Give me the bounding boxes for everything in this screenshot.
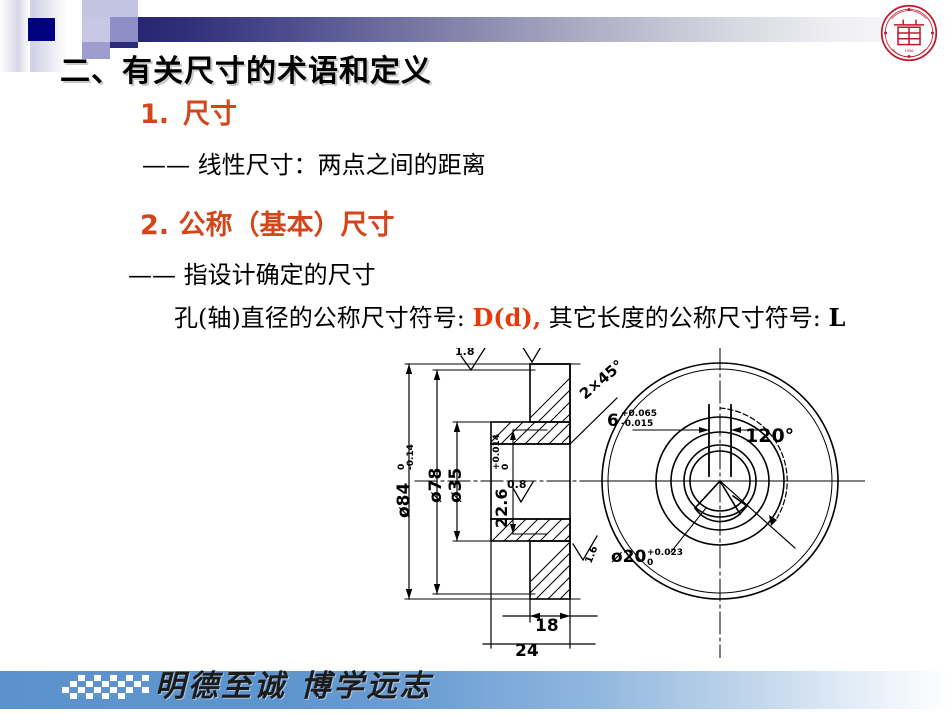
item1-subtext: —— 线性尺寸：两点之间的距离 (142, 145, 486, 180)
paragraph-text-1: 孔(轴)直径的公称尺寸符号: (174, 304, 472, 332)
header-square-e (110, 17, 138, 42)
svg-text:1958: 1958 (904, 48, 914, 53)
header-gradient-bar (112, 17, 950, 42)
label-keyway-22-6: 22.6 (492, 489, 511, 528)
fuzhou-university-seal-icon: 1958 (880, 4, 938, 62)
page-title: 二、有关尺寸的术语和定义 (60, 46, 432, 90)
section-item-2: 2. 公称（基本）尺寸 (140, 203, 394, 242)
item1-label: 尺寸 (183, 99, 237, 130)
footer-motto: 明德至诚 博学远志 (155, 661, 432, 705)
definition-paragraph: 孔(轴)直径的公称尺寸符号: D(d), 其它长度的公称尺寸符号: L (118, 302, 878, 335)
label-dia78: ø78 (426, 468, 446, 503)
section-item-1: 1.尺寸 (140, 92, 237, 131)
label-angle-120: 120° (745, 425, 794, 447)
label-dia84-tol-lower: -0.14 (406, 444, 416, 470)
footer-region: 明德至诚 博学远志 (0, 668, 950, 714)
header-square-c (82, 17, 110, 42)
item1-number: 1. (140, 99, 169, 130)
symbol-Dd: D(d), (472, 303, 541, 332)
label-keyway-6-tol-lower: -0.015 (621, 419, 653, 429)
label-keyway-6-tol-upper: +0.065 (621, 409, 657, 419)
front-centerlines (595, 348, 857, 658)
label-dia35: ø35 (446, 468, 466, 503)
header-square-b (82, 0, 110, 17)
label-roughness-1-8: 1.8 (455, 348, 475, 358)
dim-dia84 (406, 364, 412, 599)
label-bore-20-tol-lower: 0 (647, 558, 653, 568)
label-bore-20-tol-upper: +0.023 (647, 548, 683, 558)
roughness-symbol-3-2 (517, 348, 545, 362)
header-square-d (110, 0, 138, 17)
label-roughness-1-6: 1.6 (584, 545, 601, 566)
label-keyway-6: 6 (607, 411, 619, 431)
label-dia84: ø84 (395, 482, 414, 518)
front-inner-slots (695, 481, 747, 522)
symbol-L: L (828, 303, 845, 332)
slide-canvas: 1958 二、有关尺寸的术语和定义 1.尺寸 —— 线性尺寸：两点之间的距离 2… (0, 0, 950, 714)
label-bore-20: ø20 (611, 547, 647, 567)
footer-pixel-decoration-icon (62, 671, 158, 705)
header-left-fade-inner (0, 0, 30, 72)
dim-bore-20-leader (671, 508, 706, 552)
label-24: 24 (515, 641, 539, 658)
paragraph-text-2: 其它长度的公称尺寸符号: (541, 304, 828, 332)
header-square-a (28, 18, 55, 41)
item2-subtext: —— 指设计确定的尺寸 (128, 255, 376, 290)
label-18: 18 (535, 616, 559, 636)
label-chamfer: 2×45° (576, 356, 627, 403)
label-keyway-22-6-tol-lower: 0 (501, 464, 511, 470)
engineering-part-drawing: ø84 0 -0.14 ø78 ø35 18 24 2×45° 1.8 3.2 … (395, 348, 865, 658)
